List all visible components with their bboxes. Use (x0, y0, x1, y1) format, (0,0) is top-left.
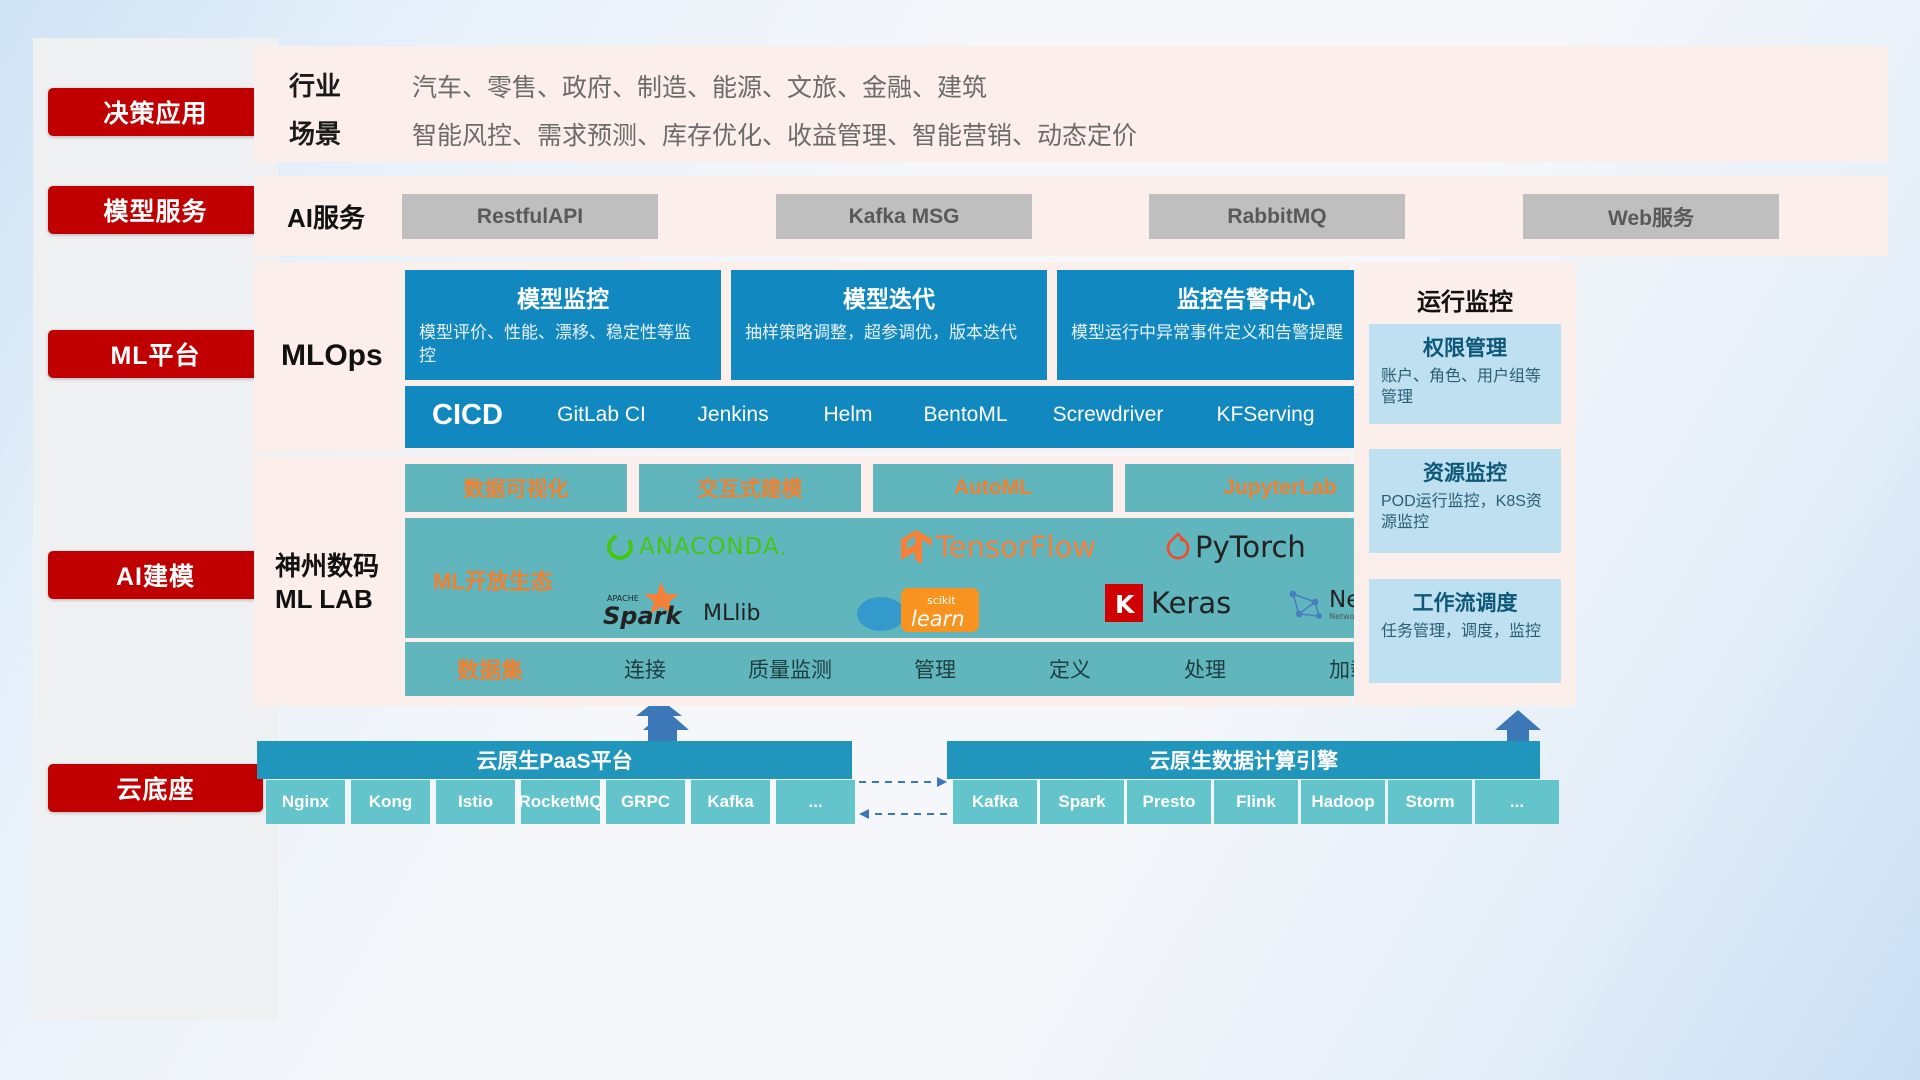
card-title: 权限管理 (1381, 332, 1549, 362)
tensorflow-logo: TensorFlow (899, 528, 1096, 566)
card-desc: 账户、角色、用户组等管理 (1381, 367, 1549, 409)
svg-text:Spark: Spark (603, 602, 683, 630)
card-desc: 任务管理，调度，监控 (1381, 622, 1549, 643)
monitoring-title: 运行监控 (1354, 282, 1576, 317)
monitoring-card-resource[interactable]: 资源监控 POD运行监控，K8S资源监控 (1369, 449, 1561, 553)
ml-ecosystem-label: ML开放生态 (433, 564, 553, 596)
paas-platform-bar: 云原生PaaS平台 (257, 741, 852, 779)
cicd-item-jenkins[interactable]: Jenkins (673, 386, 793, 427)
anaconda-logo: ANACONDA . (605, 532, 786, 562)
svg-text:learn: learn (911, 607, 965, 631)
card-title: 资源监控 (1381, 457, 1549, 487)
bidirectional-dashed-connector (855, 770, 955, 830)
paas-chip-kong[interactable]: Kong (351, 780, 430, 824)
engine-chip-flink[interactable]: Flink (1214, 780, 1298, 824)
card-title: 模型迭代 (745, 280, 1033, 314)
card-desc: 抽样策略调整，超参调优，版本迭代 (745, 322, 1033, 345)
sidebar-item-ml-platform[interactable]: ML平台 (48, 330, 263, 378)
engine-chip-presto[interactable]: Presto (1127, 780, 1211, 824)
svg-text:K: K (1115, 590, 1136, 619)
lab-tool-automl[interactable]: AutoML (873, 464, 1113, 512)
dataset-cell-define[interactable]: 定义 (1005, 654, 1135, 684)
mlops-card-model-iteration[interactable]: 模型迭代 抽样策略调整，超参调优，版本迭代 (731, 270, 1047, 380)
cicd-bar: CICD GitLab CI Jenkins Helm BentoML Scre… (405, 386, 1435, 448)
engine-chip-spark[interactable]: Spark (1040, 780, 1124, 824)
dataset-cell-process[interactable]: 处理 (1135, 654, 1275, 684)
architecture-diagram: 决策应用 模型服务 ML平台 AI建模 云底座 行业 汽车、零售、政府、制造、能… (0, 0, 1920, 1080)
cicd-item-helm[interactable]: Helm (793, 386, 903, 427)
lab-tool-data-visualization[interactable]: 数据可视化 (405, 464, 627, 512)
engine-chip-more[interactable]: ... (1475, 780, 1559, 824)
sidebar-item-ai-modeling[interactable]: AI建模 (48, 551, 263, 599)
spark-mllib-logo: APACHE Spark MLlib (603, 580, 760, 630)
scenario-key: 场景 (289, 114, 341, 151)
pytorch-logo: PyTorch (1165, 530, 1306, 564)
engine-chip-kafka[interactable]: Kafka (953, 780, 1037, 824)
sidebar-item-decision-app[interactable]: 决策应用 (48, 88, 263, 136)
svg-text:scikit: scikit (927, 594, 956, 607)
card-title: 模型监控 (419, 280, 707, 314)
ai-service-label: AI服务 (287, 198, 365, 234)
paas-chip-more[interactable]: ... (776, 780, 855, 824)
cicd-item-bentoml[interactable]: BentoML (903, 386, 1028, 427)
industry-value: 汽车、零售、政府、制造、能源、文旅、金融、建筑 (412, 68, 987, 104)
engine-chip-storm[interactable]: Storm (1388, 780, 1472, 824)
mlops-card-model-monitoring[interactable]: 模型监控 模型评价、性能、漂移、稳定性等监控 (405, 270, 721, 380)
paas-chip-rocketmq[interactable]: RocketMQ (521, 780, 600, 824)
ml-ecosystem-panel: ML开放生态 ANACONDA . TensorFlow Py (405, 518, 1435, 638)
service-chip-kafka-msg[interactable]: Kafka MSG (776, 194, 1032, 239)
ml-lab-label-line2: ML LAB (275, 583, 379, 616)
dataset-cell-connect[interactable]: 连接 (575, 654, 715, 684)
sidebar-item-model-service[interactable]: 模型服务 (48, 186, 263, 234)
lab-tool-interactive-modeling[interactable]: 交互式建模 (639, 464, 861, 512)
ai-service-band: AI服务 RestfulAPI Kafka MSG RabbitMQ Web服务 (254, 176, 1888, 256)
card-desc: 模型评价、性能、漂移、稳定性等监控 (419, 322, 707, 368)
monitoring-card-workflow[interactable]: 工作流调度 任务管理，调度，监控 (1369, 579, 1561, 683)
monitoring-card-permission[interactable]: 权限管理 账户、角色、用户组等管理 (1369, 324, 1561, 424)
industry-band: 行业 汽车、零售、政府、制造、能源、文旅、金融、建筑 场景 智能风控、需求预测、… (254, 46, 1888, 162)
card-desc: POD运行监控，K8S资源监控 (1381, 492, 1549, 534)
ml-lab-label: 神州数码 ML LAB (275, 550, 379, 615)
industry-key: 行业 (289, 66, 341, 103)
service-chip-rabbitmq[interactable]: RabbitMQ (1149, 194, 1405, 239)
ml-lab-label-line1: 神州数码 (275, 550, 379, 583)
service-chip-web-service[interactable]: Web服务 (1523, 194, 1779, 239)
mlops-band: MLOps 模型监控 模型评价、性能、漂移、稳定性等监控 模型迭代 抽样策略调整… (254, 262, 1350, 452)
scikit-learn-logo: scikit learn (855, 584, 985, 634)
cicd-item-screwdriver[interactable]: Screwdriver (1028, 386, 1188, 427)
cicd-item-gitlab-ci[interactable]: GitLab CI (530, 386, 673, 427)
paas-chip-nginx[interactable]: Nginx (266, 780, 345, 824)
dataset-row: 数据集 连接 质量监测 管理 定义 处理 加载 (405, 642, 1435, 696)
paas-chip-kafka[interactable]: Kafka (691, 780, 770, 824)
engine-chip-hadoop[interactable]: Hadoop (1301, 780, 1385, 824)
ml-lab-band: 神州数码 ML LAB 数据可视化 交互式建模 AutoML JupyterLa… (254, 456, 1350, 706)
paas-chip-grpc[interactable]: GRPC (606, 780, 685, 824)
monitoring-panel: 运行监控 权限管理 账户、角色、用户组等管理 资源监控 POD运行监控，K8S资… (1354, 262, 1576, 706)
cicd-label: CICD (405, 386, 530, 432)
service-chip-restfulapi[interactable]: RestfulAPI (402, 194, 658, 239)
card-title: 工作流调度 (1381, 587, 1549, 617)
paas-chip-istio[interactable]: Istio (436, 780, 515, 824)
mlops-label: MLOps (281, 338, 383, 374)
scenario-value: 智能风控、需求预测、库存优化、收益管理、智能营销、动态定价 (412, 116, 1137, 152)
keras-logo: K Keras (1105, 584, 1231, 622)
dataset-cell-manage[interactable]: 管理 (865, 654, 1005, 684)
sidebar-item-cloud-base[interactable]: 云底座 (48, 764, 263, 812)
dataset-label: 数据集 (405, 653, 575, 685)
data-engine-bar: 云原生数据计算引擎 (947, 741, 1540, 779)
dataset-cell-quality[interactable]: 质量监测 (715, 654, 865, 684)
cicd-item-kfserving[interactable]: KFServing (1188, 386, 1343, 427)
